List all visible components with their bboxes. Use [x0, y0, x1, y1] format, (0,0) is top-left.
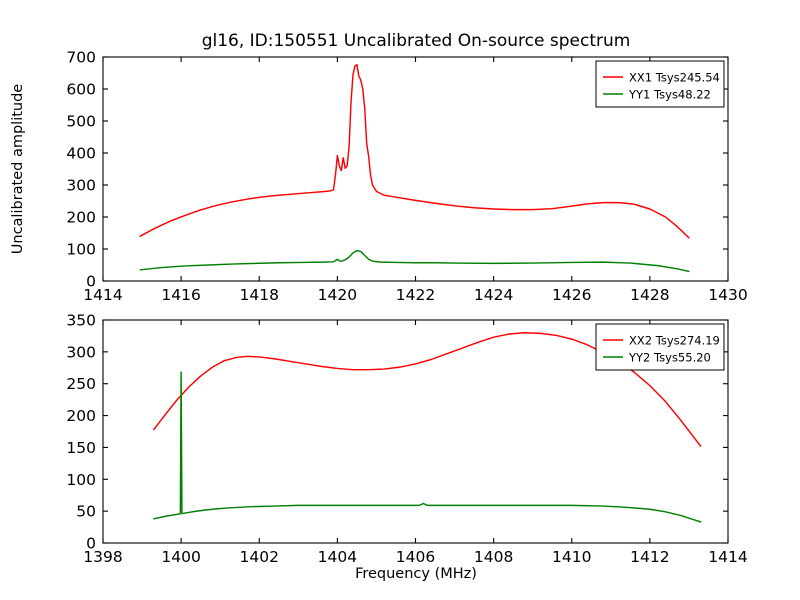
x-tick-label: 1404	[318, 548, 357, 566]
y-tick-label: 250	[66, 375, 96, 393]
x-tick-label: 1420	[318, 286, 357, 304]
y-tick-label: 300	[66, 177, 96, 195]
x-tick-label: 1402	[240, 548, 279, 566]
y-tick-label: 500	[66, 113, 96, 131]
y-tick-label: 400	[66, 145, 96, 163]
legend-label: XX2 Tsys274.19	[629, 334, 720, 348]
y-tick-label: 100	[66, 241, 96, 259]
bottom-panel: 1398140014021404140614081410141214140501…	[66, 312, 747, 567]
x-tick-label: 1410	[552, 548, 591, 566]
x-tick-label: 1416	[161, 286, 200, 304]
spectrum-figure: gl16, ID:150551 Uncalibrated On-source s…	[0, 0, 800, 600]
x-tick-label: 1412	[630, 548, 669, 566]
x-tick-label: 1430	[708, 286, 747, 304]
y-tick-label: 50	[76, 503, 96, 521]
y-tick-label: 200	[66, 209, 96, 227]
x-tick-label: 1418	[240, 286, 279, 304]
x-tick-label: 1426	[552, 286, 591, 304]
y-axis-label: Uncalibrated amplitude	[10, 84, 26, 255]
y-tick-label: 0	[86, 273, 96, 291]
x-tick-label: 1406	[396, 548, 435, 566]
y-tick-label: 100	[66, 471, 96, 489]
y-tick-label: 600	[66, 81, 96, 99]
x-axis-label: Frequency (MHz)	[355, 566, 477, 582]
y-tick-label: 200	[66, 407, 96, 425]
legend-label: XX1 Tsys245.54	[629, 71, 720, 85]
figure-title: gl16, ID:150551 Uncalibrated On-source s…	[202, 31, 631, 51]
x-tick-label: 1428	[630, 286, 669, 304]
y-tick-label: 700	[66, 49, 96, 67]
plot-canvas: gl16, ID:150551 Uncalibrated On-source s…	[0, 0, 800, 600]
x-tick-label: 1414	[708, 548, 747, 566]
x-tick-label: 1408	[474, 548, 513, 566]
x-tick-label: 1422	[396, 286, 435, 304]
y-tick-label: 300	[66, 343, 96, 361]
top-panel: 1414141614181420142214241426142814300100…	[66, 49, 747, 305]
x-tick-label: 1424	[474, 286, 513, 304]
legend-label: YY2 Tsys55.20	[628, 351, 711, 365]
y-tick-label: 0	[86, 535, 96, 553]
x-tick-label: 1400	[161, 548, 200, 566]
y-tick-label: 150	[66, 439, 96, 457]
y-tick-label: 350	[66, 312, 96, 330]
legend-label: YY1 Tsys48.22	[628, 88, 711, 102]
